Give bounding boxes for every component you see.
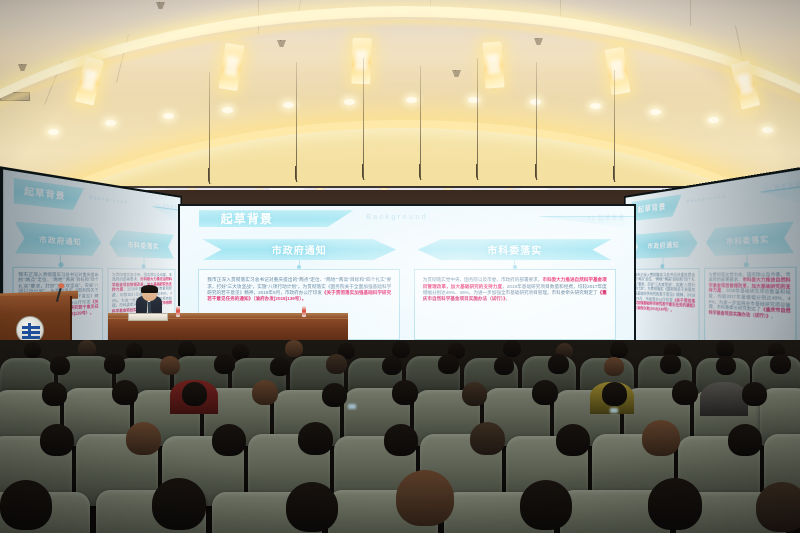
audience-head xyxy=(716,356,736,375)
chevron-icon: 市政府通知 xyxy=(202,239,396,260)
audience-head xyxy=(160,356,180,375)
body-plain-text-2: （渝府办发[2018]139号）。 xyxy=(253,296,306,301)
audience-head xyxy=(126,422,161,455)
audience-head xyxy=(604,357,624,376)
audience-head xyxy=(78,340,96,357)
column-heading: 市科委落实 xyxy=(726,233,769,247)
column-heading: 市政府通知 xyxy=(647,239,679,251)
audience-head xyxy=(384,424,418,456)
column-heading: 市政府通知 xyxy=(272,242,327,257)
audience-head xyxy=(40,424,74,456)
audience-head xyxy=(286,482,338,532)
audience-head xyxy=(642,420,680,456)
ceiling xyxy=(0,0,800,190)
slide-section-tab: 起草背景 xyxy=(13,178,84,212)
audience-head xyxy=(610,341,628,358)
audience-head xyxy=(556,424,590,456)
ceiling-panel-light xyxy=(351,38,372,85)
hanging-microphone-cable xyxy=(477,58,478,180)
audience-head xyxy=(728,424,762,456)
audience-head xyxy=(396,470,454,526)
audience-head xyxy=(112,380,138,405)
hanging-microphone-cable xyxy=(614,70,615,182)
column-heading: 市政府通知 xyxy=(39,233,82,247)
audience-head xyxy=(270,357,290,376)
audience-head xyxy=(104,354,125,374)
column-heading: 市科委落实 xyxy=(487,242,542,257)
conference-hall-scene: 起草背景 Background 01 起草背景 市政府通知 我市正深入贯彻落实习… xyxy=(0,0,800,533)
slide-section-subtitle: Background xyxy=(366,214,428,221)
audience-head xyxy=(503,340,521,357)
audience-head xyxy=(494,356,514,375)
audience-head xyxy=(322,383,347,407)
body-plain-text-2: （渝府办发[2018]139号）。 xyxy=(634,305,674,312)
hanging-microphone-cable xyxy=(209,72,210,184)
body-plain-text-3: 。 xyxy=(505,296,510,301)
audience-head xyxy=(438,354,459,374)
slide-section-title: 起草背景 xyxy=(631,201,666,216)
water-bottle xyxy=(302,306,306,317)
audience-head xyxy=(126,343,143,359)
slide-section-tab: 起草背景 xyxy=(631,194,682,221)
speaker-tie xyxy=(148,302,151,313)
audience-head xyxy=(326,354,347,374)
audience-head xyxy=(382,356,402,375)
phone-screen-glow xyxy=(348,404,356,409)
water-bottle xyxy=(176,306,180,317)
body-plain-text-3: 。 xyxy=(771,313,776,319)
audience-head xyxy=(756,482,800,532)
hanging-microphone-cable xyxy=(420,66,421,180)
slide-section-tab: 起草背景 xyxy=(199,210,353,227)
ceiling-panel-light xyxy=(482,41,504,88)
speaker-hair xyxy=(141,285,158,293)
nameplate xyxy=(128,313,168,321)
chevron-icon: 市政府通知 xyxy=(15,222,101,257)
audience-head xyxy=(742,382,767,406)
audience-head xyxy=(520,480,572,530)
audience-head xyxy=(285,340,303,357)
audience-head xyxy=(252,380,278,405)
audience-head xyxy=(392,380,418,405)
slide-column-right: 市科委落实 为贯彻落实党中央、国务院以及市委、市政府的部署要求，市科委大力推进自… xyxy=(414,239,616,340)
hanging-microphone-cable xyxy=(536,62,537,180)
audience-head xyxy=(0,480,52,530)
ceiling-fixture xyxy=(156,2,165,9)
slide-section-title: 起草背景 xyxy=(199,210,273,227)
audience-head xyxy=(770,354,791,374)
column-body-box: 为贯彻落实党中央、国务院以及市委、市政府的部署要求，市科委大力推进自然科学基金项… xyxy=(414,269,616,340)
body-plain-text: 为贯彻落实党中央、国务院以及市委、市政府的部署要求， xyxy=(423,277,543,282)
hanging-microphone-cable xyxy=(363,58,364,180)
audience-head xyxy=(602,382,627,406)
slide-section-subtitle: Background xyxy=(686,192,726,203)
chevron-icon: 市政府通知 xyxy=(632,229,697,259)
audience-head xyxy=(548,354,569,374)
audience-head xyxy=(672,380,698,405)
audience-head xyxy=(298,422,333,455)
audience-head xyxy=(152,478,206,530)
chevron-icon: 市科委落实 xyxy=(418,239,612,260)
phone-screen-glow xyxy=(610,408,618,413)
audience-head xyxy=(50,356,70,375)
audience-head xyxy=(24,342,41,358)
audience-head xyxy=(462,382,487,406)
hanging-microphone-cable xyxy=(296,62,297,182)
audience-torso xyxy=(700,382,748,416)
audience-head xyxy=(660,354,681,374)
ceiling-fixture xyxy=(18,64,27,71)
arrow-right-icon xyxy=(539,216,634,229)
chevron-icon: 市科委落实 xyxy=(706,221,794,256)
audience-head xyxy=(716,340,734,357)
audience-head xyxy=(182,382,207,406)
audience-head xyxy=(214,354,235,374)
column-heading: 市科委落实 xyxy=(127,239,159,251)
audience-head xyxy=(648,478,702,530)
slide-header: 起草背景 Background 01 起草背景 xyxy=(180,206,634,236)
slide-section-title: 起草背景 xyxy=(13,184,65,204)
chevron-icon: 市科委落实 xyxy=(109,229,174,259)
audience-head xyxy=(212,424,246,456)
audience-seating-area xyxy=(0,340,800,533)
audience-head xyxy=(42,382,67,406)
audience-head xyxy=(470,422,505,455)
slide-section-subtitle: Background xyxy=(89,194,128,205)
audience-head xyxy=(532,380,558,405)
